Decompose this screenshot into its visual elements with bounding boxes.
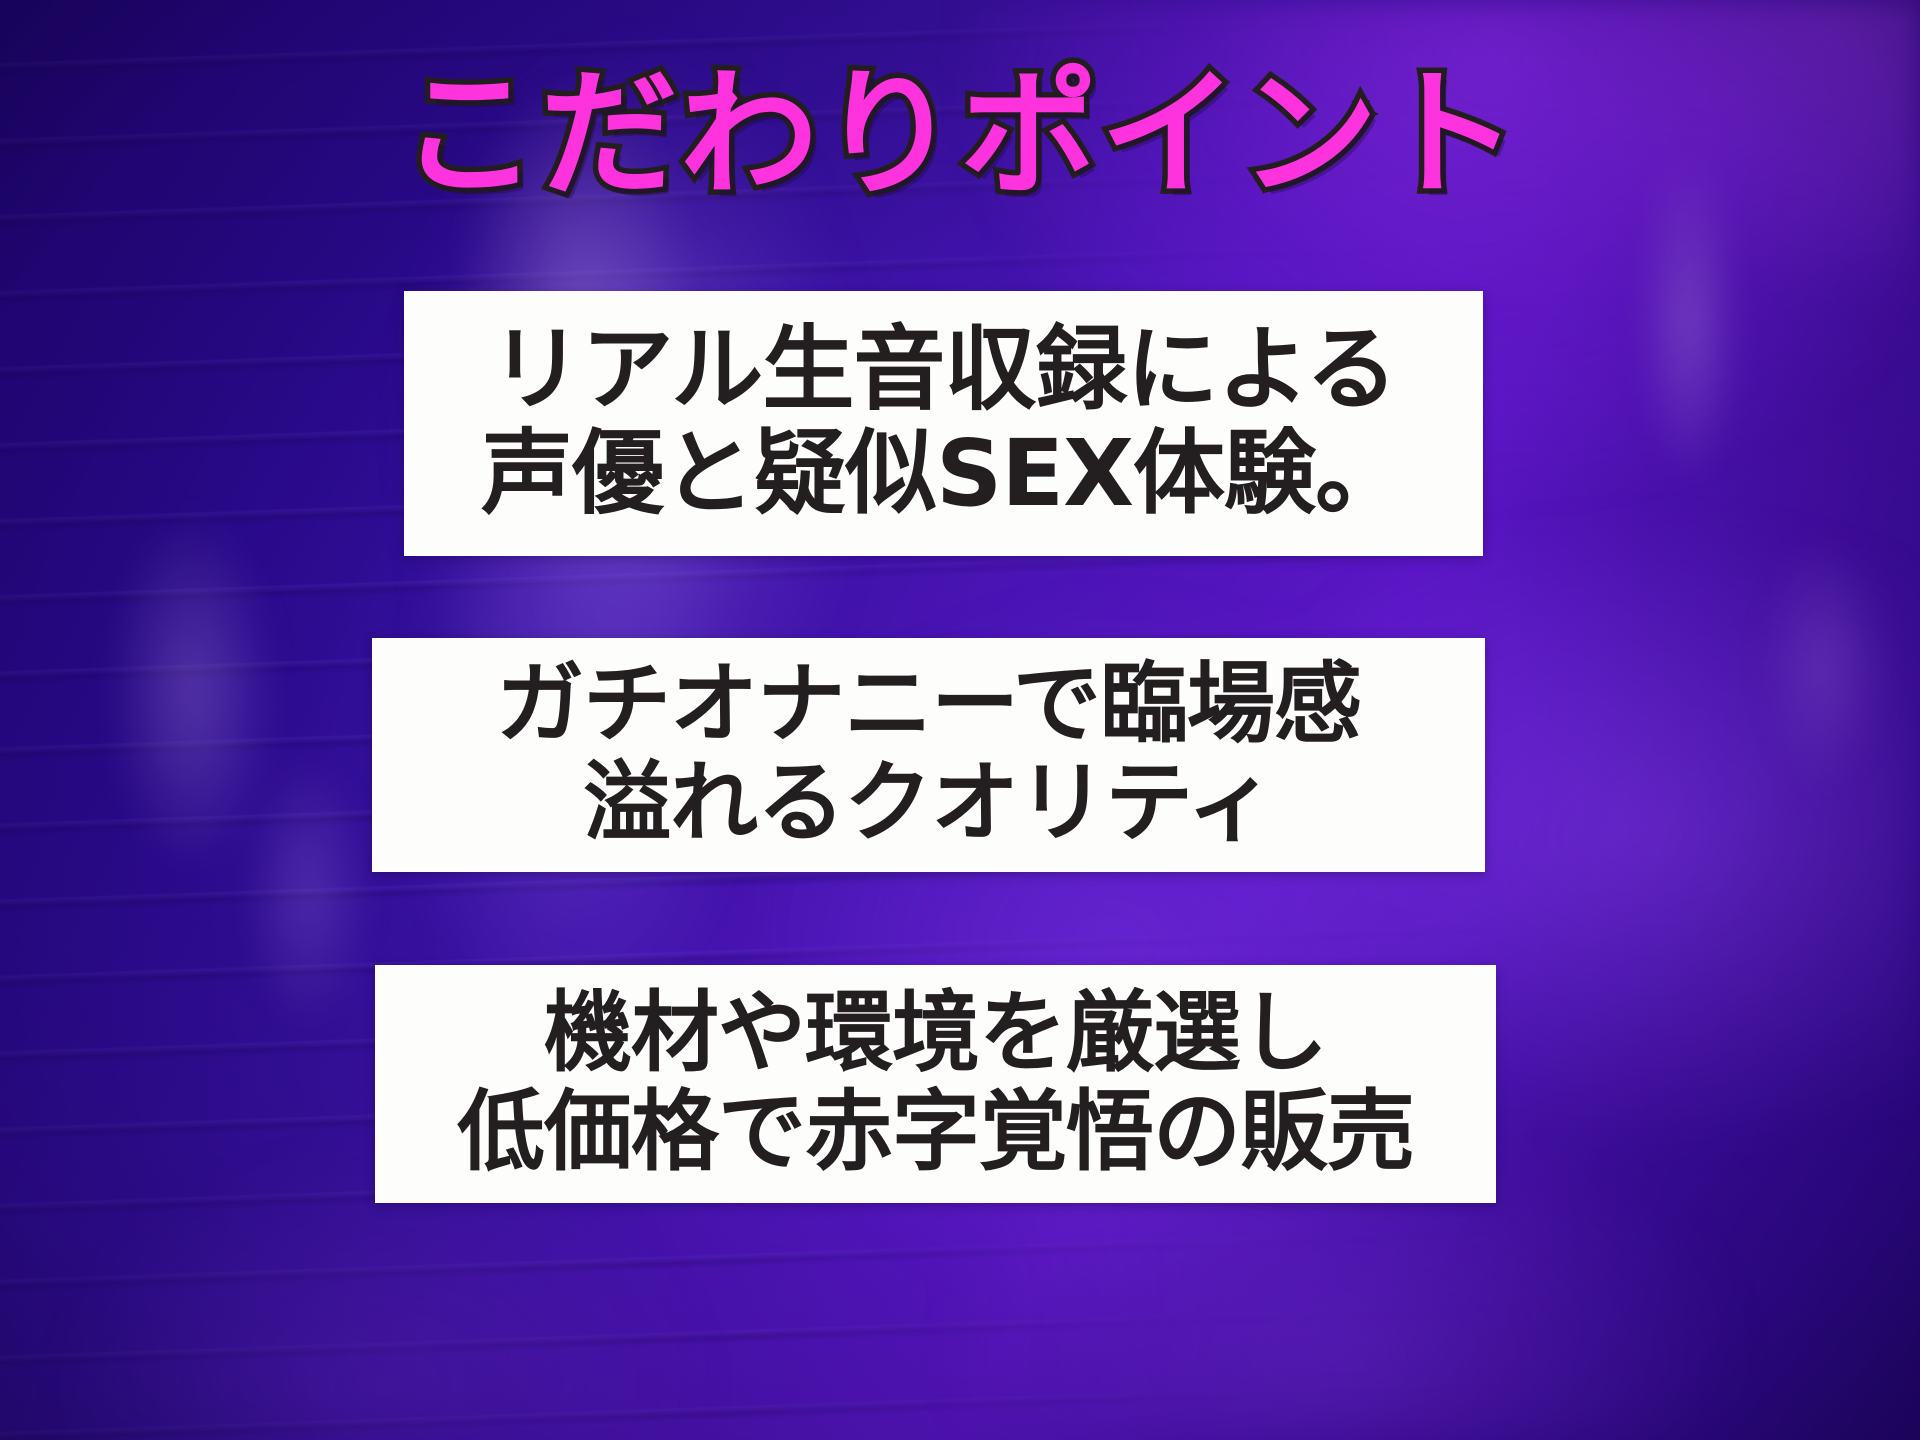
feature-box-3-line-2: 低価格で赤字覚悟の販売: [457, 1082, 1414, 1181]
feature-box-1-line-2: 声優と疑似SEX体験。: [481, 422, 1406, 525]
feature-box-1: リアル生音収録による 声優と疑似SEX体験。: [404, 291, 1483, 556]
page-title: こだわりポイント: [400, 66, 1520, 204]
feature-box-2-line-2: 溢れるクオリティ: [583, 753, 1274, 852]
feature-box-2-line-1: ガチオナニーで臨場感: [496, 654, 1361, 753]
feature-box-2: ガチオナニーで臨場感 溢れるクオリティ: [372, 638, 1485, 872]
headline-container: こだわりポイント: [0, 66, 1920, 204]
feature-box-1-line-1: リアル生音収録による: [490, 318, 1396, 421]
promo-banner: こだわりポイント リアル生音収録による 声優と疑似SEX体験。 ガチオナニーで臨…: [0, 0, 1920, 1440]
feature-box-3: 機材や環境を厳選し 低価格で赤字覚悟の販売: [375, 965, 1496, 1203]
feature-box-3-line-1: 機材や環境を厳選し: [544, 983, 1327, 1082]
